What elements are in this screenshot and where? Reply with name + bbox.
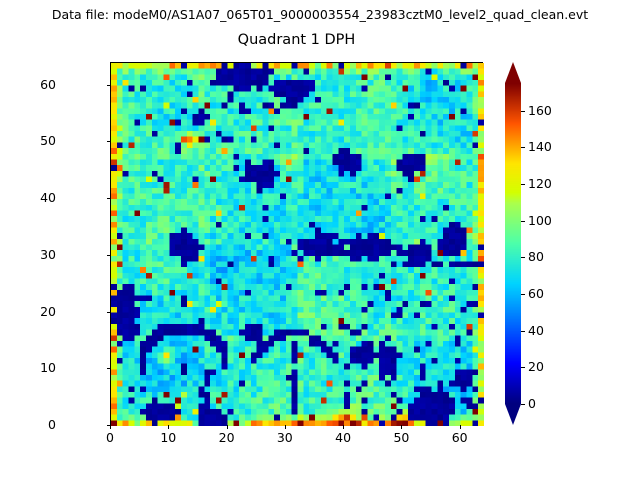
colorbar [505,62,521,425]
x-tick-mark [285,425,286,429]
colorbar-tick-mark [521,294,525,295]
colorbar-tick-label: 140 [528,139,552,154]
colorbar-tick-mark [521,184,525,185]
colorbar-tick-mark [521,257,525,258]
colorbar-tick-label: 0 [528,396,536,411]
x-tick-label: 10 [148,430,188,445]
colorbar-tick-label: 80 [528,249,544,264]
colorbar-tick-label: 40 [528,323,544,338]
x-tick-mark [168,425,169,429]
x-tick-label: 30 [265,430,305,445]
y-tick-label: 50 [16,133,56,148]
y-tick-mark [107,198,111,199]
y-tick-label: 0 [16,417,56,432]
y-tick-label: 30 [16,247,56,262]
colorbar-tick-mark [521,111,525,112]
colorbar-image [505,83,521,404]
colorbar-tick-label: 60 [528,286,544,301]
y-tick-mark [107,368,111,369]
y-tick-mark [107,85,111,86]
colorbar-tick-mark [521,221,525,222]
detector-heatmap-image [111,63,484,426]
x-tick-label: 40 [323,430,363,445]
x-tick-mark [401,425,402,429]
y-tick-label: 60 [16,77,56,92]
x-tick-label: 20 [207,430,247,445]
colorbar-tick-label: 120 [528,176,552,191]
page-title: Quadrant 1 DPH [110,31,483,49]
y-tick-label: 40 [16,190,56,205]
colorbar-tick-mark [521,147,525,148]
colorbar-tick-label: 20 [528,359,544,374]
colorbar-tick-label: 160 [528,103,552,118]
y-tick-label: 20 [16,304,56,319]
x-tick-label: 0 [90,430,130,445]
colorbar-tick-mark [521,367,525,368]
x-tick-label: 50 [381,430,421,445]
matplotlib-figure: Data file: modeM0/AS1A07_065T01_90000035… [0,0,640,480]
x-tick-mark [460,425,461,429]
colorbar-under-arrow-icon [505,404,521,425]
y-tick-mark [107,312,111,313]
heatmap-axes [110,62,483,425]
x-tick-mark [343,425,344,429]
x-tick-mark [110,425,111,429]
colorbar-tick-mark [521,331,525,332]
y-tick-mark [107,425,111,426]
colorbar-over-arrow-icon [505,62,521,83]
y-tick-label: 10 [16,360,56,375]
colorbar-tick-label: 100 [528,213,552,228]
x-tick-mark [227,425,228,429]
colorbar-gradient [505,83,521,404]
x-tick-label: 60 [440,430,480,445]
y-tick-mark [107,141,111,142]
data-file-label: Data file: modeM0/AS1A07_065T01_90000035… [0,7,640,22]
colorbar-tick-mark [521,404,525,405]
y-tick-mark [107,255,111,256]
